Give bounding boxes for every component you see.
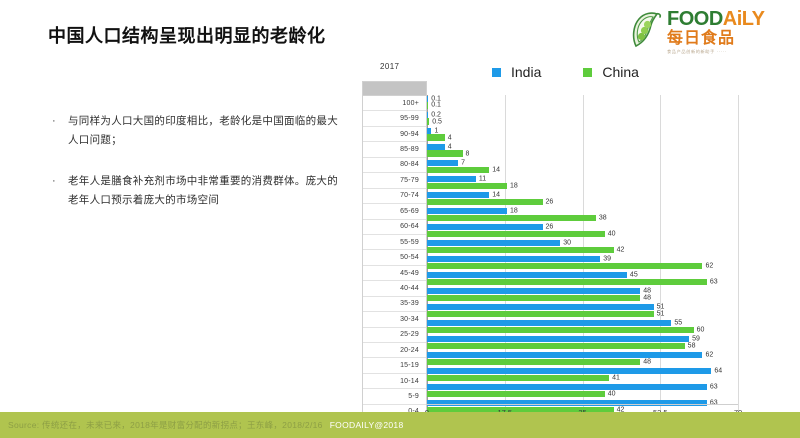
bar-value-label: 63 bbox=[707, 384, 718, 391]
bar-value-label: 38 bbox=[596, 214, 607, 221]
bar-india[interactable] bbox=[427, 224, 543, 230]
chart-gridline bbox=[738, 95, 739, 427]
bar-group-china: 62 bbox=[427, 263, 738, 269]
bar-china[interactable] bbox=[427, 311, 654, 317]
population-pyramid-chart: 2017 IndiaChina 100+95-9990-9485-8980-84… bbox=[362, 62, 786, 398]
bar-india[interactable] bbox=[427, 368, 711, 374]
bar-india[interactable] bbox=[427, 160, 458, 166]
bar-china[interactable] bbox=[427, 231, 605, 237]
chart-row: 14 bbox=[427, 128, 738, 143]
bar-value-label: 30 bbox=[560, 239, 571, 246]
bar-group-china: 14 bbox=[427, 167, 738, 173]
chart-row: 5151 bbox=[427, 304, 738, 319]
bar-china[interactable] bbox=[427, 199, 543, 205]
bar-value-label: 0.5 bbox=[429, 118, 442, 125]
chart-row: 0.20.5 bbox=[427, 112, 738, 127]
bar-group-china: 40 bbox=[427, 391, 738, 397]
chart-row: 5958 bbox=[427, 336, 738, 351]
list-item: · 老年人是膳食补充剂市场中非常重要的消费群体。庞大的老年人口预示着庞大的市场空… bbox=[52, 172, 342, 210]
bar-group-china: 38 bbox=[427, 215, 738, 221]
bar-group-india: 1 bbox=[427, 128, 738, 134]
bar-value-label: 63 bbox=[707, 278, 718, 285]
bar-value-label: 14 bbox=[489, 166, 500, 173]
bar-group-india: 0.1 bbox=[427, 96, 738, 102]
category-label: 75-79 bbox=[363, 173, 426, 188]
legend-item-india[interactable]: India bbox=[492, 64, 541, 80]
chart-row: 4563 bbox=[427, 272, 738, 287]
page-title: 中国人口结构呈现出明显的老龄化 bbox=[48, 22, 326, 48]
bar-group-india: 11 bbox=[427, 176, 738, 182]
footer-bar: Source: 传统还在，未来已来，2018年是财富分配的新拐点；王东峰，201… bbox=[0, 412, 800, 438]
bar-india[interactable] bbox=[427, 176, 476, 182]
legend-label: India bbox=[511, 64, 541, 80]
bar-group-china: 40 bbox=[427, 231, 738, 237]
bar-group-china: 18 bbox=[427, 183, 738, 189]
bar-group-india: 59 bbox=[427, 336, 738, 342]
bar-india[interactable] bbox=[427, 240, 560, 246]
chart-row: 1426 bbox=[427, 192, 738, 207]
bar-value-label: 18 bbox=[507, 207, 518, 214]
bar-india[interactable] bbox=[427, 288, 640, 294]
bar-group-india: 64 bbox=[427, 368, 738, 374]
bar-value-label: 48 bbox=[640, 358, 651, 365]
chart-legend: IndiaChina bbox=[492, 64, 639, 80]
bar-china[interactable] bbox=[427, 295, 640, 301]
bar-group-china: 42 bbox=[427, 247, 738, 253]
category-label: 90-94 bbox=[363, 127, 426, 142]
chart-row: 6441 bbox=[427, 368, 738, 383]
bar-value-label: 18 bbox=[507, 182, 518, 189]
category-label: 5-9 bbox=[363, 389, 426, 404]
bar-india[interactable] bbox=[427, 192, 489, 198]
list-item: · 与同样为人口大国的印度相比，老龄化是中国面临的最大人口问题； bbox=[52, 112, 342, 150]
bar-china[interactable] bbox=[427, 263, 702, 269]
bar-value-label: 40 bbox=[605, 391, 616, 398]
bar-value-label: 45 bbox=[627, 272, 638, 279]
bar-india[interactable] bbox=[427, 208, 507, 214]
bar-india[interactable] bbox=[427, 384, 707, 390]
category-label: 10-14 bbox=[363, 374, 426, 389]
chart-row: 48 bbox=[427, 144, 738, 159]
chart-row: 1838 bbox=[427, 208, 738, 223]
category-label: 60-64 bbox=[363, 220, 426, 235]
bar-group-india: 14 bbox=[427, 192, 738, 198]
chart-row: 5560 bbox=[427, 320, 738, 335]
bar-value-label: 8 bbox=[463, 150, 470, 157]
bar-group-india: 18 bbox=[427, 208, 738, 214]
chart-row: 1118 bbox=[427, 176, 738, 191]
bar-value-label: 26 bbox=[543, 223, 554, 230]
bar-group-china: 41 bbox=[427, 375, 738, 381]
chart-row: 0.10.1 bbox=[427, 96, 738, 111]
bar-value-label: 58 bbox=[685, 342, 696, 349]
category-label: 95-99 bbox=[363, 111, 426, 126]
bar-group-india: 26 bbox=[427, 224, 738, 230]
bar-china[interactable] bbox=[427, 167, 489, 173]
brand-logo: FOODAiLY 每日食品 食品产品创新的新助手 ····· bbox=[630, 8, 788, 56]
bar-india[interactable] bbox=[427, 304, 654, 310]
category-label: 80-84 bbox=[363, 158, 426, 173]
bar-value-label: 26 bbox=[543, 198, 554, 205]
bar-china[interactable] bbox=[427, 134, 445, 140]
bar-value-label: 64 bbox=[711, 368, 722, 375]
bar-china[interactable] bbox=[427, 327, 694, 333]
category-label: 25-29 bbox=[363, 328, 426, 343]
category-label: 50-54 bbox=[363, 250, 426, 265]
x-axis-line bbox=[427, 404, 738, 405]
bar-group-china: 58 bbox=[427, 343, 738, 349]
bar-value-label: 51 bbox=[654, 310, 665, 317]
bar-group-india: 30 bbox=[427, 240, 738, 246]
bar-group-india: 45 bbox=[427, 272, 738, 278]
bar-group-india: 4 bbox=[427, 144, 738, 150]
bullet-marker-icon: · bbox=[52, 172, 68, 191]
legend-item-china[interactable]: China bbox=[583, 64, 639, 80]
bar-china[interactable] bbox=[427, 150, 463, 156]
logo-word-food: FOOD bbox=[667, 8, 723, 30]
chart-plot-area: 0.10.10.20.51448714111814261838264030423… bbox=[427, 95, 738, 435]
bar-china[interactable] bbox=[427, 215, 596, 221]
bar-value-label: 55 bbox=[671, 320, 682, 327]
bar-india[interactable] bbox=[427, 144, 445, 150]
bar-china[interactable] bbox=[427, 375, 609, 381]
chart-row: 3962 bbox=[427, 256, 738, 271]
bar-group-china: 0.5 bbox=[427, 118, 738, 124]
legend-label: China bbox=[602, 64, 639, 80]
bar-value-label: 4 bbox=[445, 143, 452, 150]
bar-value-label: 0.1 bbox=[428, 102, 441, 109]
category-label: 40-44 bbox=[363, 281, 426, 296]
chart-row: 4848 bbox=[427, 288, 738, 303]
bullet-list: · 与同样为人口大国的印度相比，老龄化是中国面临的最大人口问题； · 老年人是膳… bbox=[52, 112, 342, 232]
chart-row: 2640 bbox=[427, 224, 738, 239]
bar-china[interactable] bbox=[427, 247, 614, 253]
bar-group-china: 48 bbox=[427, 359, 738, 365]
bar-value-label: 4 bbox=[445, 134, 452, 141]
pea-pod-icon bbox=[630, 12, 664, 52]
bar-group-india: 0.2 bbox=[427, 112, 738, 118]
category-header-cell bbox=[363, 82, 426, 96]
chart-row: 3042 bbox=[427, 240, 738, 255]
category-label: 30-34 bbox=[363, 312, 426, 327]
bar-india[interactable] bbox=[427, 352, 702, 358]
bar-value-label: 62 bbox=[702, 262, 713, 269]
bar-china[interactable] bbox=[427, 343, 685, 349]
category-label: 100+ bbox=[363, 96, 426, 111]
bullet-text: 老年人是膳食补充剂市场中非常重要的消费群体。庞大的老年人口预示着庞大的市场空间 bbox=[68, 172, 342, 210]
bar-china[interactable] bbox=[427, 279, 707, 285]
logo-tagline: 食品产品创新的新助手 ····· bbox=[667, 49, 765, 55]
legend-swatch-icon bbox=[492, 68, 501, 77]
bar-value-label: 41 bbox=[609, 375, 620, 382]
bar-group-china: 0.1 bbox=[427, 102, 738, 108]
category-axis-table: 100+95-9990-9485-8980-8475-7970-7465-696… bbox=[362, 81, 427, 420]
bullet-marker-icon: · bbox=[52, 112, 68, 131]
logo-wordmark: FOODAiLY bbox=[667, 9, 765, 29]
category-label: 15-19 bbox=[363, 358, 426, 373]
footer-brand-text: FOODAILY@2018 bbox=[330, 420, 404, 430]
chart-year-label: 2017 bbox=[380, 62, 399, 71]
bar-value-label: 60 bbox=[694, 326, 705, 333]
bar-value-label: 39 bbox=[600, 256, 611, 263]
category-label: 35-39 bbox=[363, 297, 426, 312]
bar-value-label: 42 bbox=[614, 246, 625, 253]
logo-word-aily: AiLY bbox=[723, 8, 765, 30]
bar-group-india: 63 bbox=[427, 384, 738, 390]
chart-row: 6340 bbox=[427, 384, 738, 399]
bar-group-india: 51 bbox=[427, 304, 738, 310]
bar-value-label: 62 bbox=[702, 352, 713, 359]
bar-group-india: 7 bbox=[427, 160, 738, 166]
bar-india[interactable] bbox=[427, 272, 627, 278]
bar-china[interactable] bbox=[427, 359, 640, 365]
bar-value-label: 1 bbox=[431, 127, 438, 134]
bar-group-china: 48 bbox=[427, 295, 738, 301]
bar-india[interactable] bbox=[427, 256, 600, 262]
footer-source-text: Source: 传统还在，未来已来，2018年是财富分配的新拐点；王东峰，201… bbox=[8, 419, 323, 431]
legend-swatch-icon bbox=[583, 68, 592, 77]
category-label: 55-59 bbox=[363, 235, 426, 250]
bar-value-label: 11 bbox=[476, 175, 486, 182]
category-label: 65-69 bbox=[363, 204, 426, 219]
bar-group-india: 62 bbox=[427, 352, 738, 358]
logo-chinese-name: 每日食品 bbox=[667, 30, 765, 48]
bar-group-china: 4 bbox=[427, 134, 738, 140]
bar-china[interactable] bbox=[427, 391, 605, 397]
bar-group-india: 55 bbox=[427, 320, 738, 326]
slide-root: 中国人口结构呈现出明显的老龄化 FOODAiLY 每日食品 食品产品创新的新助手… bbox=[0, 0, 800, 438]
bar-group-india: 48 bbox=[427, 288, 738, 294]
bullet-text: 与同样为人口大国的印度相比，老龄化是中国面临的最大人口问题； bbox=[68, 112, 342, 150]
bar-group-china: 26 bbox=[427, 199, 738, 205]
category-label: 45-49 bbox=[363, 266, 426, 281]
category-label: 85-89 bbox=[363, 142, 426, 157]
bar-value-label: 40 bbox=[605, 230, 616, 237]
chart-row: 714 bbox=[427, 160, 738, 175]
bar-india[interactable] bbox=[427, 320, 671, 326]
bar-value-label: 48 bbox=[640, 294, 651, 301]
category-label: 70-74 bbox=[363, 189, 426, 204]
bar-value-label: 14 bbox=[489, 191, 500, 198]
bar-group-india: 39 bbox=[427, 256, 738, 262]
bar-value-label: 7 bbox=[458, 159, 465, 166]
category-label: 20-24 bbox=[363, 343, 426, 358]
bar-china[interactable] bbox=[427, 183, 507, 189]
bar-india[interactable] bbox=[427, 336, 689, 342]
bar-group-china: 8 bbox=[427, 150, 738, 156]
chart-row: 6248 bbox=[427, 352, 738, 367]
logo-text-block: FOODAiLY 每日食品 食品产品创新的新助手 ····· bbox=[667, 9, 765, 56]
bar-group-china: 60 bbox=[427, 327, 738, 333]
bar-group-china: 51 bbox=[427, 311, 738, 317]
bar-group-china: 63 bbox=[427, 279, 738, 285]
